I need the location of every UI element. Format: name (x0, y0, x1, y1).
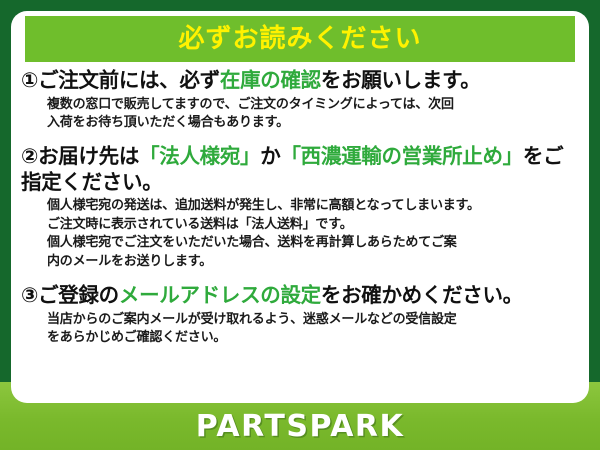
item-1-head-part1: ご注文前には、必ず (38, 68, 220, 92)
notice-item-3-body: 当店からのご案内メールが受け取れるよう、迷惑メールなどの受信設定 をあらかじめご… (47, 311, 581, 348)
item-1-head-part2: をお願いします。 (321, 68, 481, 92)
item-2-body-line-4: 内のメールをお送りします。 (47, 253, 581, 271)
notice-panel: 必ずお読みください ①ご注文前には、必ず在庫の確認をお願いします。 複数の窓口で… (11, 11, 589, 403)
notice-item-2-heading: ②お届け先は「法人様宛」か「西濃運輸の営業所止め」をご指定ください。 (21, 144, 581, 196)
item-3-body-line-2: をあらかじめご確認ください。 (47, 329, 581, 347)
notice-item-list: ①ご注文前には、必ず在庫の確認をお願いします。 複数の窓口で販売してますので、ご… (11, 68, 589, 348)
brand-logo-text: PARTSPARK (0, 412, 600, 442)
item-1-body-line-1: 複数の窓口で販売してますので、ご注文のタイミングによっては、次回 (47, 96, 581, 114)
page-title: 必ずお読みください (178, 26, 421, 52)
item-3-head-highlight: メールアドレスの設定 (119, 283, 321, 307)
item-2-body-line-2: ご注文時に表示されている送料は「法人送料」です。 (47, 216, 581, 234)
item-2-head-highlight: 「法人様宛」 (139, 144, 260, 168)
item-2-marker: ② (21, 144, 38, 168)
notice-item-3: ③ご登録のメールアドレスの設定をお確かめください。 当店からのご案内メールが受け… (11, 283, 589, 348)
notice-banner: 必ずお読みください ①ご注文前には、必ず在庫の確認をお願いします。 複数の窓口で… (0, 0, 600, 450)
notice-item-1-heading: ①ご注文前には、必ず在庫の確認をお願いします。 (21, 68, 581, 94)
notice-item-3-heading: ③ご登録のメールアドレスの設定をお確かめください。 (21, 283, 581, 309)
notice-item-1-body: 複数の窓口で販売してますので、ご注文のタイミングによっては、次回 入荷をお待ち頂… (47, 96, 581, 133)
item-1-head-highlight: 在庫の確認 (220, 68, 321, 92)
item-2-body-line-1: 個人様宅宛の発送は、追加送料が発生し、非常に高額となってしまいます。 (47, 197, 581, 215)
notice-item-1: ①ご注文前には、必ず在庫の確認をお願いします。 複数の窓口で販売してますので、ご… (11, 68, 589, 133)
title-bar: 必ずお読みください (25, 16, 575, 62)
item-3-body-line-1: 当店からのご案内メールが受け取れるよう、迷惑メールなどの受信設定 (47, 311, 581, 329)
notice-item-2: ②お届け先は「法人様宛」か「西濃運輸の営業所止め」をご指定ください。 個人様宅宛… (11, 144, 589, 271)
item-3-head-part2: をお確かめください。 (321, 283, 523, 307)
item-1-body-line-2: 入荷をお待ち頂いただく場合もあります。 (47, 114, 581, 132)
item-1-marker: ① (21, 68, 38, 92)
notice-item-2-body: 個人様宅宛の発送は、追加送料が発生し、非常に高額となってしまいます。 ご注文時に… (47, 197, 581, 271)
item-2-head-highlight-2: 「西濃運輸の営業所止め」 (280, 144, 522, 168)
item-3-head-part1: ご登録の (38, 283, 119, 307)
item-2-body-line-3: 個人様宅宛でご注文をいただいた場合、送料を再計算しあらためてご案 (47, 234, 581, 252)
item-3-marker: ③ (21, 283, 38, 307)
item-2-head-part1: お届け先は (38, 144, 139, 168)
item-2-head-mid: か (260, 144, 280, 168)
